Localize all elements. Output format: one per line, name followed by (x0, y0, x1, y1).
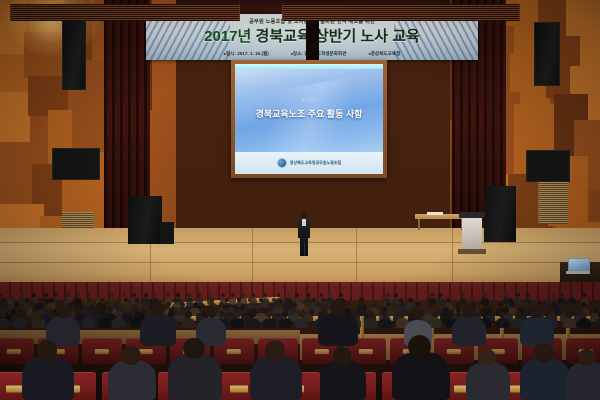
audience-person (515, 298, 523, 304)
audience-person (452, 316, 486, 346)
projection-screen: 2017 경북교육노조 주요 활동 사항 경상북도교육청공무원노동조합 (235, 64, 383, 174)
audience-head (236, 302, 241, 307)
audience-head (526, 293, 530, 297)
audience-head (368, 311, 374, 317)
audience-head (76, 307, 82, 313)
audience-head (408, 298, 412, 302)
audience-head (49, 298, 53, 302)
audience-head (219, 311, 225, 317)
audience-person (82, 318, 95, 328)
wall-grille-right (538, 178, 568, 224)
audience-person (246, 318, 259, 328)
audience-head (85, 311, 91, 317)
theater-seat (82, 338, 122, 364)
audience-head (321, 298, 325, 302)
audience-head (20, 293, 24, 297)
audience-head (266, 311, 272, 317)
audience-person (112, 318, 125, 328)
audience-person (595, 318, 600, 328)
audience-person (231, 318, 244, 328)
audience-head (424, 307, 430, 313)
audience-head (282, 311, 288, 317)
audience-head (86, 293, 90, 297)
audience-person (392, 352, 450, 400)
audience-head (456, 307, 462, 313)
audience-head (509, 302, 514, 307)
audience-head (63, 298, 67, 302)
audience-head (35, 311, 41, 317)
audience-head (549, 311, 555, 317)
audience-head (0, 311, 6, 317)
audience-head (330, 300, 346, 316)
hanging-speaker-right-upper (534, 22, 560, 86)
audience-person (520, 358, 570, 400)
audience-head (231, 293, 235, 297)
audience-person (318, 312, 358, 346)
audience-person (22, 356, 74, 400)
screen-support-pole (306, 14, 319, 62)
audience-head (386, 293, 390, 297)
audience-head (560, 293, 564, 297)
slide-footer-org: 경상북도교육청공무원노동조합 (290, 160, 342, 166)
audience-person (98, 318, 111, 328)
banner-title-rest: 상반기 노사 교육 (315, 28, 420, 45)
banner-title-year: 2017년 (204, 28, 251, 45)
audience-head (251, 302, 256, 307)
stage-monitor-left (160, 222, 174, 244)
audience-head (176, 293, 180, 297)
audience-person (263, 318, 276, 328)
audience-head (92, 307, 98, 313)
audience-person (142, 298, 150, 304)
audience-person (566, 362, 600, 400)
audience-head (515, 311, 521, 317)
audience-head (499, 311, 505, 317)
laptop-keyboard (566, 271, 590, 274)
audience-head (66, 293, 70, 297)
audience-head (295, 293, 299, 297)
audience-head (583, 293, 587, 297)
presenter-shirt (302, 219, 306, 226)
audience-head (430, 293, 434, 297)
audience-head (185, 311, 191, 317)
audience-head (581, 311, 587, 317)
audience-person (320, 360, 366, 400)
audience-head (432, 311, 438, 317)
audience-person (466, 362, 510, 400)
podium-base (458, 249, 486, 254)
banner-title-org: 경북교육 (256, 28, 311, 45)
audience-person (295, 318, 308, 328)
table-papers (427, 212, 443, 215)
audience-head (152, 293, 156, 297)
audience-person (32, 318, 45, 328)
stage-speaker-right (484, 186, 516, 242)
audience-head (534, 343, 554, 363)
audience-head (408, 335, 431, 358)
audience-person (460, 298, 468, 304)
laptop-screen (568, 258, 590, 271)
projection-screen-frame: 2017 경북교육노조 주요 활동 사항 경상북도교육청공무원노동조합 (231, 60, 387, 178)
audience-head (263, 293, 267, 297)
audience-head (483, 293, 487, 297)
audience-head (339, 293, 343, 297)
audience-person (168, 354, 222, 400)
audience-head (227, 307, 233, 313)
wall-speaker-right-lower (526, 150, 570, 182)
audience-head (462, 304, 476, 318)
audience-person (0, 318, 9, 328)
audience-person (13, 318, 26, 328)
audience-person (578, 318, 591, 328)
audience-head (530, 304, 544, 318)
audience-head (448, 311, 454, 317)
audience-head (37, 298, 41, 302)
organization-logo-icon (277, 158, 287, 168)
audience-head (135, 311, 141, 317)
audience-head (75, 293, 79, 297)
audience-head (304, 307, 310, 313)
audience-head (412, 308, 423, 319)
audience-head (124, 307, 130, 313)
audience-head (205, 306, 217, 318)
audience-head (570, 293, 574, 297)
stage-speaker-left (128, 196, 162, 244)
audience-head (258, 307, 264, 313)
audience-head (438, 293, 442, 297)
audience-person (496, 318, 509, 328)
audience-head (382, 311, 388, 317)
audience-head (415, 302, 420, 307)
podium (462, 215, 482, 251)
audience-head (290, 307, 296, 313)
audience-head (76, 298, 80, 302)
hanging-speaker-left-upper (62, 18, 86, 90)
slide-title: 경북교육노조 주요 활동 사항 (235, 107, 383, 120)
audience-head (107, 307, 113, 313)
audience-person (563, 318, 576, 328)
audience-head (56, 304, 70, 318)
banner-date: 일시: 2017. 1. 16.(월) (224, 51, 269, 57)
audience-person (108, 360, 156, 400)
audience-head (566, 311, 572, 317)
presenter (297, 212, 311, 256)
audience-head (101, 311, 107, 317)
audience-person (364, 318, 377, 328)
wall-speaker-left-lower (52, 148, 100, 180)
audience-person (140, 314, 176, 346)
slide-year: 2017 (235, 98, 383, 104)
audience-head (183, 338, 205, 360)
audience-person (182, 318, 195, 328)
audience-head (399, 311, 405, 317)
audience-person (379, 318, 392, 328)
audience-head (234, 311, 240, 317)
audience-head (333, 346, 351, 364)
banner-host: 경상북도교육청 (368, 51, 400, 57)
audience-person (279, 318, 292, 328)
audience-person (520, 316, 554, 346)
audience-person (250, 356, 302, 400)
podium-top (459, 212, 485, 218)
screen-top-strip (235, 64, 383, 69)
audience-head (328, 293, 332, 297)
audience-head (121, 346, 140, 365)
audience-head (132, 293, 136, 297)
slide-footer: 경상북도교육청공무원노동조합 (235, 152, 383, 174)
audience-head (287, 293, 291, 297)
audience-head (249, 311, 255, 317)
audience-head (116, 311, 122, 317)
audience-head (298, 311, 304, 317)
audience-head (274, 307, 280, 313)
audience-head (481, 311, 487, 317)
operator-laptop (566, 258, 590, 272)
auditorium-photo: 공무원 노동조합 및 노사관계의 올바른 인식 제고를 위한 2017년 경북교… (0, 0, 600, 400)
audience-head (144, 293, 148, 297)
